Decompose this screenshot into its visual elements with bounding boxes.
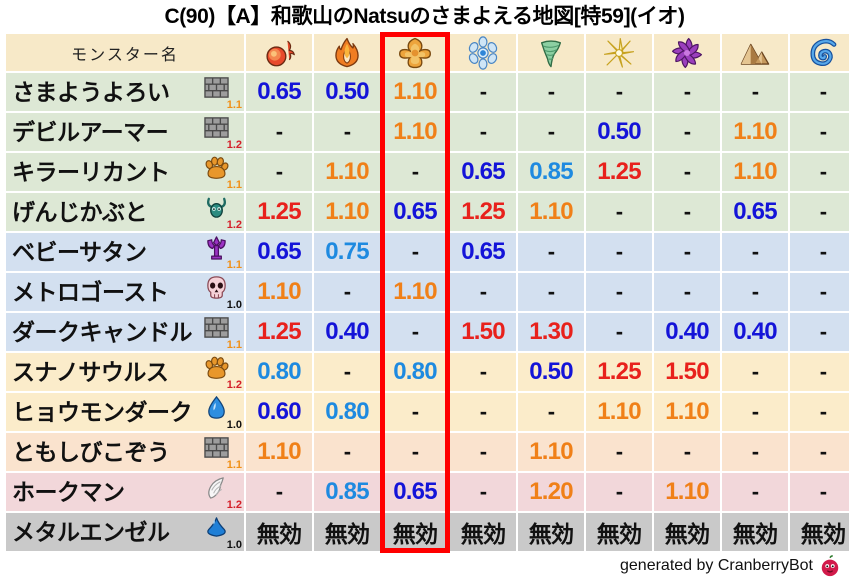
resistance-value: 1.25 [257, 318, 301, 345]
resistance-value: - [820, 359, 827, 384]
resistance-value: - [684, 279, 691, 304]
resistance-cell: - [586, 473, 652, 511]
monster-version-label: 1.1 [227, 100, 242, 111]
resistance-value: - [412, 159, 419, 184]
resistance-value: - [820, 439, 827, 464]
resistance-value: - [820, 119, 827, 144]
resistance-cell: - [586, 273, 652, 311]
resistance-cell: 0.80 [382, 353, 448, 391]
monster-name-cell[interactable]: ベビーサタン 1.1 [6, 233, 244, 271]
page-title: C(90)【A】和歌山のNatsuのさまよえる地図[特59](イオ) [0, 0, 849, 32]
table-row: キラーリカント 1.1-1.10-0.650.851.25-1.10- [6, 153, 849, 191]
table-row: げんじかぶと 1.21.251.100.651.251.10--0.65- [6, 193, 849, 231]
monster-name-cell[interactable]: キラーリカント 1.1 [6, 153, 244, 191]
resistance-cell: 1.25 [450, 193, 516, 231]
resistance-cell: 無効 [450, 513, 516, 551]
resistance-cell: 無効 [518, 513, 584, 551]
resistance-value: 0.75 [325, 238, 369, 265]
resistance-cell: 無効 [654, 513, 720, 551]
resistance-value: - [616, 479, 623, 504]
column-header-wave-blue-icon[interactable] [790, 34, 849, 71]
resistance-cell: - [382, 313, 448, 351]
monster-name-inner: ホークマン 1.2 [6, 473, 244, 511]
resistance-cell: 0.40 [314, 313, 380, 351]
resistance-cell: 無効 [382, 513, 448, 551]
resistance-value: 1.10 [393, 278, 437, 305]
resistance-cell: 0.50 [586, 113, 652, 151]
resistance-value: 0.40 [665, 318, 709, 345]
table-row: メタルエンゼル 1.0無効無効無効無効無効無効無効無効無効 [6, 513, 849, 551]
monster-version-label: 1.0 [227, 540, 242, 551]
resistance-cell: - [722, 353, 788, 391]
resistance-cell: - [518, 113, 584, 151]
resistance-cell: - [790, 433, 849, 471]
monster-version-label: 1.2 [227, 380, 242, 391]
resistance-cell: 0.50 [518, 353, 584, 391]
monster-name-cell[interactable]: げんじかぶと 1.2 [6, 193, 244, 231]
resistance-value: 0.40 [325, 318, 369, 345]
resistance-value: - [684, 239, 691, 264]
resistance-cell: - [518, 73, 584, 111]
resistance-cell: 0.65 [246, 233, 312, 271]
monster-name-label: キラーリカント [12, 161, 202, 184]
resistance-cell: 1.10 [518, 193, 584, 231]
resistance-value: - [344, 279, 351, 304]
resistance-value: - [820, 399, 827, 424]
resistance-cell: - [518, 273, 584, 311]
resistance-value: 無効 [597, 521, 641, 547]
resistance-value: - [548, 239, 555, 264]
resistance-value: 0.65 [257, 78, 301, 105]
resistance-value: - [480, 399, 487, 424]
resistance-cell: - [654, 193, 720, 231]
flame-orange-icon [314, 36, 380, 70]
resistance-value: 無効 [529, 521, 573, 547]
resistance-table-wrapper: モンスター名 [0, 32, 849, 553]
resistance-value: - [344, 119, 351, 144]
monster-name-cell[interactable]: メトロゴースト 1.0 [6, 273, 244, 311]
resistance-cell: 0.60 [246, 393, 312, 431]
resistance-value: 0.60 [257, 398, 301, 425]
resistance-cell: 0.85 [314, 473, 380, 511]
monster-badge: 1.1 [202, 74, 242, 110]
resistance-value: - [480, 359, 487, 384]
resistance-value: 0.65 [257, 238, 301, 265]
resistance-cell: - [450, 473, 516, 511]
fireball-red-icon [246, 36, 312, 70]
resistance-cell: - [382, 153, 448, 191]
resistance-cell: - [654, 113, 720, 151]
resistance-cell: 0.65 [722, 193, 788, 231]
resistance-cell: 1.50 [654, 353, 720, 391]
table-row: スナノサウルス 1.20.80-0.80-0.501.251.50-- [6, 353, 849, 391]
resistance-value: - [412, 239, 419, 264]
monster-version-label: 1.1 [227, 180, 242, 191]
monster-version-label: 1.0 [227, 300, 242, 311]
resistance-value: 1.25 [597, 158, 641, 185]
monster-name-inner: デビルアーマー 1.2 [6, 113, 244, 151]
column-header-fireball-red-icon[interactable] [246, 34, 312, 71]
resistance-value: - [276, 479, 283, 504]
monster-name-cell[interactable]: デビルアーマー 1.2 [6, 113, 244, 151]
monster-name-label: ベビーサタン [12, 241, 202, 264]
resistance-value: 0.65 [393, 198, 437, 225]
resistance-cell: - [382, 433, 448, 471]
resistance-value: - [752, 359, 759, 384]
resistance-value: - [344, 439, 351, 464]
monster-badge: 1.1 [202, 234, 242, 270]
resistance-cell: 0.40 [654, 313, 720, 351]
resistance-cell: - [518, 233, 584, 271]
resistance-value: - [616, 319, 623, 344]
resistance-cell: - [382, 233, 448, 271]
resistance-cell: - [654, 273, 720, 311]
monster-badge: 1.1 [202, 434, 242, 470]
resistance-value: 無効 [257, 521, 301, 547]
resistance-cell: 1.10 [246, 273, 312, 311]
mountain-brown-icon [722, 36, 788, 70]
resistance-table: モンスター名 [4, 32, 849, 553]
monster-badge: 1.2 [202, 474, 242, 510]
resistance-cell: - [450, 113, 516, 151]
resistance-cell: 0.65 [450, 233, 516, 271]
resistance-value: 0.80 [325, 398, 369, 425]
column-header-snowflake-blue-icon[interactable] [450, 34, 516, 71]
resistance-value: 1.20 [529, 478, 573, 505]
resistance-value: - [820, 79, 827, 104]
monster-badge: 1.1 [202, 314, 242, 350]
monster-badge: 1.2 [202, 354, 242, 390]
monster-badge: 1.1 [202, 154, 242, 190]
resistance-cell: 1.10 [654, 393, 720, 431]
resistance-cell: 1.20 [518, 473, 584, 511]
monster-version-label: 1.2 [227, 220, 242, 231]
resistance-value: 1.25 [461, 198, 505, 225]
resistance-value: 無効 [393, 521, 437, 547]
resistance-value: 1.10 [325, 198, 369, 225]
monster-badge: 1.0 [202, 514, 242, 550]
resistance-value: - [752, 479, 759, 504]
resistance-value: - [480, 479, 487, 504]
resistance-cell: - [722, 273, 788, 311]
resistance-cell: - [314, 273, 380, 311]
resistance-value: - [752, 279, 759, 304]
column-header-starburst-yellow-icon[interactable] [586, 34, 652, 71]
resistance-value: - [616, 239, 623, 264]
resistance-cell: 1.50 [450, 313, 516, 351]
resistance-value: 無効 [801, 521, 845, 547]
resistance-cell: 無効 [722, 513, 788, 551]
monster-version-label: 1.2 [227, 500, 242, 511]
resistance-value: 1.50 [665, 358, 709, 385]
resistance-value: - [276, 119, 283, 144]
resistance-value: 無効 [461, 521, 505, 547]
resistance-cell: 1.10 [722, 153, 788, 191]
resistance-cell: - [790, 473, 849, 511]
resistance-value: - [616, 79, 623, 104]
resistance-cell: 0.50 [314, 73, 380, 111]
resistance-value: 0.85 [325, 478, 369, 505]
table-header-row: モンスター名 [6, 34, 849, 71]
wave-blue-icon [790, 36, 849, 70]
resistance-value: 1.10 [597, 398, 641, 425]
monster-name-cell[interactable]: スナノサウルス 1.2 [6, 353, 244, 391]
resistance-value: 0.40 [733, 318, 777, 345]
table-row: メトロゴースト 1.01.10-1.10------ [6, 273, 849, 311]
cranberry-icon [819, 555, 841, 577]
table-row: さまようよろい 1.10.650.501.10------ [6, 73, 849, 111]
footer-text: generated by CranberryBot [620, 557, 813, 575]
resistance-cell: - [790, 113, 849, 151]
resistance-cell: - [586, 233, 652, 271]
resistance-cell: - [518, 393, 584, 431]
resistance-value: 1.10 [665, 478, 709, 505]
table-row: ホークマン 1.2-0.850.65-1.20-1.10-- [6, 473, 849, 511]
resistance-value: 1.10 [257, 438, 301, 465]
resistance-value: - [684, 159, 691, 184]
resistance-value: 0.80 [393, 358, 437, 385]
monster-name-inner: ともしびこぞう 1.1 [6, 433, 244, 471]
monster-name-label: スナノサウルス [12, 361, 202, 384]
pinwheel-purple-icon [654, 36, 720, 70]
column-header-tornado-green-icon[interactable] [518, 34, 584, 71]
monster-badge: 1.2 [202, 114, 242, 150]
resistance-cell: 0.65 [382, 473, 448, 511]
resistance-value: - [820, 319, 827, 344]
resistance-cell: 1.10 [654, 473, 720, 511]
resistance-cell: - [586, 193, 652, 231]
resistance-cell: - [382, 393, 448, 431]
resistance-cell: 1.10 [314, 153, 380, 191]
resistance-cell: - [314, 113, 380, 151]
resistance-cell: - [790, 153, 849, 191]
monster-name-label: ともしびこぞう [12, 441, 202, 464]
resistance-cell: - [790, 73, 849, 111]
column-header-flame-orange-icon[interactable] [314, 34, 380, 71]
resistance-cell: 0.40 [722, 313, 788, 351]
monster-name-cell[interactable]: ダークキャンドル 1.1 [6, 313, 244, 351]
resistance-value: 1.50 [461, 318, 505, 345]
monster-name-cell[interactable]: ともしびこぞう 1.1 [6, 433, 244, 471]
resistance-cell: - [654, 73, 720, 111]
monster-name-label: げんじかぶと [12, 201, 202, 224]
monster-name-inner: キラーリカント 1.1 [6, 153, 244, 191]
resistance-value: - [344, 359, 351, 384]
resistance-cell: 1.10 [382, 113, 448, 151]
resistance-value: - [820, 479, 827, 504]
column-header-explosion-orange-icon[interactable] [382, 34, 448, 71]
resistance-value: 0.65 [461, 238, 505, 265]
monster-name-inner: スナノサウルス 1.2 [6, 353, 244, 391]
resistance-value: - [412, 399, 419, 424]
resistance-value: 0.80 [257, 358, 301, 385]
footer-credit: generated by CranberryBot [620, 555, 841, 577]
resistance-cell: - [246, 153, 312, 191]
resistance-value: - [548, 399, 555, 424]
starburst-yellow-icon [586, 36, 652, 70]
resistance-value: - [480, 119, 487, 144]
monster-name-inner: メタルエンゼル 1.0 [6, 513, 244, 551]
resistance-cell: - [722, 473, 788, 511]
monster-name-inner: さまようよろい 1.1 [6, 73, 244, 111]
resistance-cell: - [654, 233, 720, 271]
monster-name-inner: げんじかぶと 1.2 [6, 193, 244, 231]
resistance-value: - [480, 79, 487, 104]
resistance-value: - [820, 279, 827, 304]
resistance-cell: 1.10 [722, 113, 788, 151]
resistance-value: - [684, 119, 691, 144]
resistance-cell: 1.10 [246, 433, 312, 471]
resistance-cell: - [450, 73, 516, 111]
resistance-value: 0.65 [733, 198, 777, 225]
resistance-cell: - [586, 313, 652, 351]
resistance-value: - [820, 199, 827, 224]
resistance-value: 無効 [733, 521, 777, 547]
monster-name-label: ダークキャンドル [12, 321, 202, 344]
resistance-value: - [752, 239, 759, 264]
column-header-pinwheel-purple-icon[interactable] [654, 34, 720, 71]
resistance-value: 1.10 [665, 398, 709, 425]
resistance-cell: 1.25 [246, 313, 312, 351]
resistance-cell: 0.80 [246, 353, 312, 391]
monster-name-cell[interactable]: ヒョウモンダーク 1.0 [6, 393, 244, 431]
resistance-value: - [820, 159, 827, 184]
resistance-value: 0.85 [529, 158, 573, 185]
resistance-cell: 0.80 [314, 393, 380, 431]
resistance-cell: 1.10 [586, 393, 652, 431]
resistance-cell: - [790, 233, 849, 271]
resistance-cell: 1.25 [586, 353, 652, 391]
resistance-cell: 1.25 [246, 193, 312, 231]
monster-badge: 1.2 [202, 194, 242, 230]
resistance-cell: 1.30 [518, 313, 584, 351]
resistance-value: 1.10 [257, 278, 301, 305]
resistance-value: 1.25 [257, 198, 301, 225]
resistance-value: - [616, 439, 623, 464]
resistance-cell: 無効 [314, 513, 380, 551]
monster-badge: 1.0 [202, 394, 242, 430]
resistance-cell: 0.65 [382, 193, 448, 231]
resistance-value: - [752, 439, 759, 464]
resistance-value: - [616, 199, 623, 224]
resistance-value: - [820, 239, 827, 264]
column-header-mountain-brown-icon[interactable] [722, 34, 788, 71]
monster-name-label: ホークマン [12, 481, 202, 504]
resistance-cell: - [654, 153, 720, 191]
resistance-value: - [412, 439, 419, 464]
resistance-cell: - [246, 473, 312, 511]
explosion-orange-icon [382, 36, 448, 70]
resistance-cell: - [790, 313, 849, 351]
resistance-value: 無効 [665, 521, 709, 547]
resistance-cell: - [790, 273, 849, 311]
monster-name-cell[interactable]: メタルエンゼル 1.0 [6, 513, 244, 551]
table-row: ヒョウモンダーク 1.00.600.80---1.101.10-- [6, 393, 849, 431]
resistance-cell: 0.75 [314, 233, 380, 271]
resistance-cell: - [450, 433, 516, 471]
resistance-cell: - [790, 193, 849, 231]
resistance-value: 0.65 [461, 158, 505, 185]
resistance-cell: - [790, 353, 849, 391]
resistance-cell: - [314, 433, 380, 471]
monster-name-label: メタルエンゼル [12, 521, 202, 544]
resistance-cell: - [586, 73, 652, 111]
resistance-cell: - [654, 433, 720, 471]
resistance-value: - [548, 279, 555, 304]
snowflake-blue-icon [450, 36, 516, 70]
monster-name-cell[interactable]: ホークマン 1.2 [6, 473, 244, 511]
resistance-cell: 1.10 [314, 193, 380, 231]
resistance-cell: - [722, 73, 788, 111]
resistance-cell: 1.10 [382, 73, 448, 111]
monster-version-label: 1.1 [227, 340, 242, 351]
resistance-value: - [548, 79, 555, 104]
resistance-cell: - [450, 273, 516, 311]
resistance-value: - [412, 319, 419, 344]
resistance-value: 1.10 [529, 438, 573, 465]
resistance-value: 無効 [325, 521, 369, 547]
resistance-value: 0.65 [393, 478, 437, 505]
resistance-value: 1.10 [393, 78, 437, 105]
monster-name-inner: ベビーサタン 1.1 [6, 233, 244, 271]
monster-version-label: 1.1 [227, 260, 242, 271]
table-row: ベビーサタン 1.10.650.75-0.65----- [6, 233, 849, 271]
resistance-value: - [684, 439, 691, 464]
resistance-value: - [752, 79, 759, 104]
resistance-value: 0.50 [529, 358, 573, 385]
tornado-green-icon [518, 36, 584, 70]
resistance-value: - [480, 279, 487, 304]
resistance-cell: - [314, 353, 380, 391]
resistance-value: - [480, 439, 487, 464]
resistance-value: - [616, 279, 623, 304]
resistance-cell: 無効 [586, 513, 652, 551]
resistance-value: 1.10 [325, 158, 369, 185]
resistance-value: - [684, 79, 691, 104]
resistance-cell: 1.10 [518, 433, 584, 471]
resistance-value: 0.50 [597, 118, 641, 145]
resistance-cell: 0.85 [518, 153, 584, 191]
resistance-cell: - [450, 353, 516, 391]
monster-name-cell[interactable]: さまようよろい 1.1 [6, 73, 244, 111]
resistance-cell: 無効 [246, 513, 312, 551]
resistance-cell: - [586, 433, 652, 471]
monster-name-label: さまようよろい [12, 81, 202, 104]
resistance-cell: 1.10 [382, 273, 448, 311]
table-row: デビルアーマー 1.2--1.10--0.50-1.10- [6, 113, 849, 151]
monster-name-label: デビルアーマー [12, 121, 202, 144]
resistance-cell: - [722, 233, 788, 271]
resistance-cell: 0.65 [246, 73, 312, 111]
monster-name-inner: ダークキャンドル 1.1 [6, 313, 244, 351]
resistance-cell: - [450, 393, 516, 431]
monster-name-inner: ヒョウモンダーク 1.0 [6, 393, 244, 431]
resistance-cell: - [246, 113, 312, 151]
monster-version-label: 1.0 [227, 420, 242, 431]
resistance-cell: - [722, 393, 788, 431]
column-header-monster-name: モンスター名 [6, 34, 244, 71]
monster-version-label: 1.1 [227, 460, 242, 471]
resistance-cell: 0.65 [450, 153, 516, 191]
table-row: ダークキャンドル 1.11.250.40-1.501.30-0.400.40- [6, 313, 849, 351]
resistance-value: 1.10 [733, 118, 777, 145]
resistance-value: 1.30 [529, 318, 573, 345]
resistance-value: - [752, 399, 759, 424]
resistance-value: 1.10 [393, 118, 437, 145]
resistance-cell: - [722, 433, 788, 471]
monster-badge: 1.0 [202, 274, 242, 310]
resistance-cell: - [790, 393, 849, 431]
